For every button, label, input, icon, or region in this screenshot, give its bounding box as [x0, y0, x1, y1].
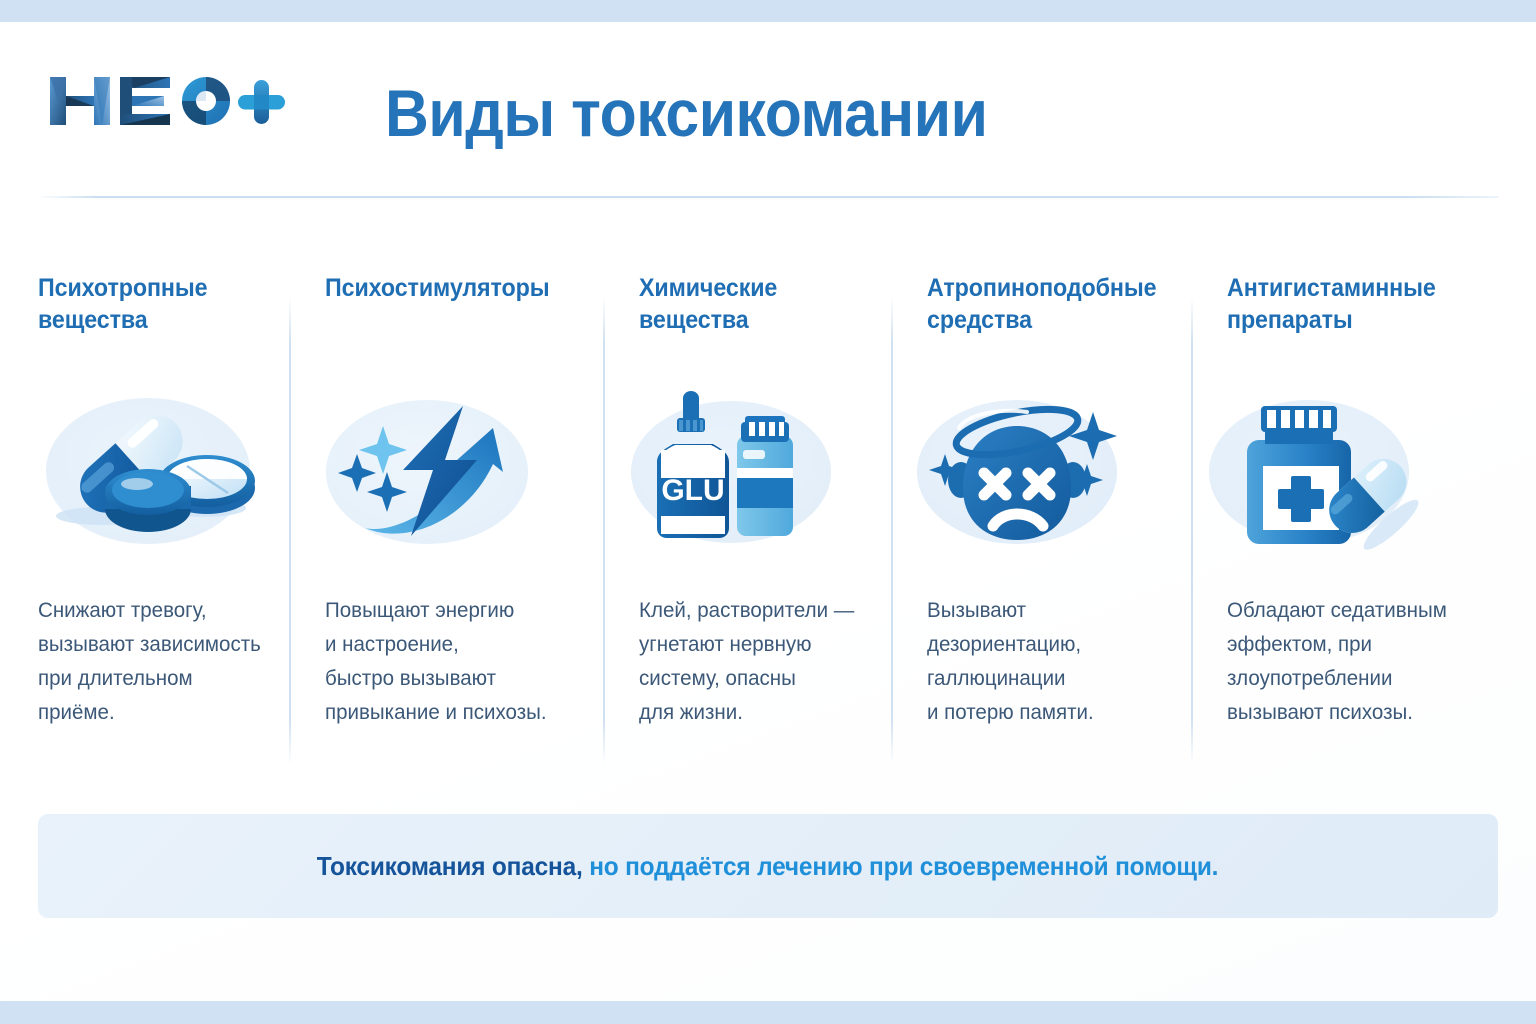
page-title: Виды токсикомании — [385, 80, 987, 146]
category-description: Обладают седативным эффектом, при злоупо… — [1227, 594, 1514, 730]
medicine-bottle-capsule-icon — [1191, 388, 1431, 558]
footer-message-strong: Токсикомания опасна, — [317, 851, 583, 881]
category-column-stimulants: Психостимуляторы — [289, 272, 603, 772]
footer-callout-banner: Токсикомания опасна, но поддаётся лечени… — [38, 814, 1498, 918]
neo-plus-logo — [48, 70, 298, 132]
category-column-atropine-like: Атропиноподобные средства — [891, 272, 1191, 772]
category-description: Клей, растворители — угнетают нервную си… — [639, 594, 897, 730]
category-description: Снижают тревогу, вызывают зависимость пр… — [38, 594, 286, 730]
glue-bottle-solvent-icon: GLU — [613, 388, 853, 558]
category-title: Атропиноподобные средства — [927, 272, 1139, 336]
category-title: Психостимуляторы — [325, 272, 550, 304]
header-divider-rule — [37, 196, 1499, 198]
bottom-decorative-band — [0, 1001, 1536, 1024]
category-description: Вызывают дезориентацию, галлюцинации и п… — [927, 594, 1190, 730]
category-column-psychotropic: Психотропные вещества — [0, 272, 289, 772]
category-column-antihistamines: Антигистаминные препараты — [1191, 272, 1536, 772]
footer-message-light: но поддаётся лечению при своевременной п… — [583, 851, 1219, 881]
glue-label: GLU — [661, 474, 724, 507]
top-decorative-band — [0, 0, 1536, 22]
neo-plus-logo-icon — [48, 70, 298, 132]
category-title: Антигистаминные препараты — [1227, 272, 1481, 336]
lightning-bolt-sparkles-arrow-icon — [307, 388, 547, 558]
category-title: Химические вещества — [639, 272, 840, 336]
category-column-chemicals: Химические вещества — [603, 272, 891, 772]
category-description: Повыщают энергию и настроение, быстро вы… — [325, 594, 602, 730]
dizzy-face-x-eyes-icon — [897, 388, 1137, 558]
header: Виды токсикомании — [0, 22, 1536, 198]
categories-row: Психотропные вещества — [0, 272, 1536, 772]
category-title: Психотропные вещества — [38, 272, 238, 336]
infographic-canvas: Виды токсикомании Психотропные вещества — [0, 22, 1536, 1001]
footer-message: Токсикомания опасна, но поддаётся лечени… — [317, 851, 1219, 882]
pills-capsule-tablets-icon — [32, 388, 272, 558]
